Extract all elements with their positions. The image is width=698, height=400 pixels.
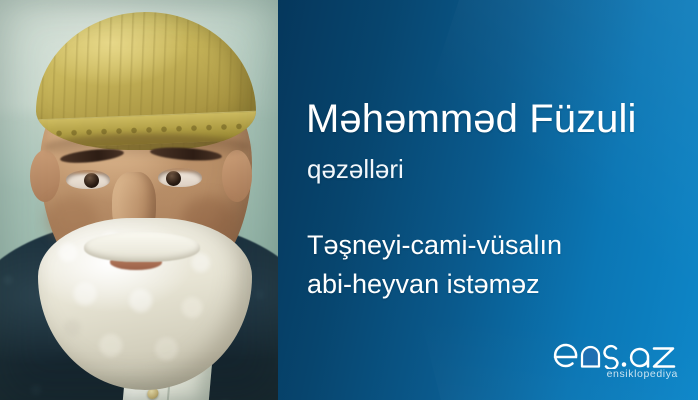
eye-left — [66, 170, 110, 189]
page-title: Məhəmməd Füzuli — [306, 99, 637, 139]
ear-right — [222, 150, 252, 202]
eyelid-right — [158, 168, 202, 171]
mustache — [84, 232, 200, 262]
logo-tagline: ensiklopediya — [540, 369, 678, 380]
fuzuli-poem-banner: Məhəmməd Füzuli qəzəlləri Təşneyi-cami-v… — [0, 0, 698, 400]
ear-left — [30, 150, 60, 202]
page-subtitle: qəzəlləri — [307, 156, 404, 182]
portrait-image — [0, 0, 278, 400]
poem-couplet: Təşneyi-cami-vüsalın abi-heyvan istəməz — [307, 226, 562, 303]
site-logo[interactable]: ensiklopediya — [540, 337, 680, 383]
text-panel: Məhəmməd Füzuli qəzəlləri Təşneyi-cami-v… — [278, 0, 698, 400]
ens-az-wordmark-icon — [550, 337, 680, 369]
eyelid-left — [66, 170, 110, 173]
pupil-left — [84, 173, 99, 188]
poem-line: abi-heyvan istəməz — [307, 265, 562, 304]
pupil-right — [166, 171, 181, 186]
eye-right — [158, 168, 202, 187]
poem-line: Təşneyi-cami-vüsalın — [307, 226, 562, 265]
